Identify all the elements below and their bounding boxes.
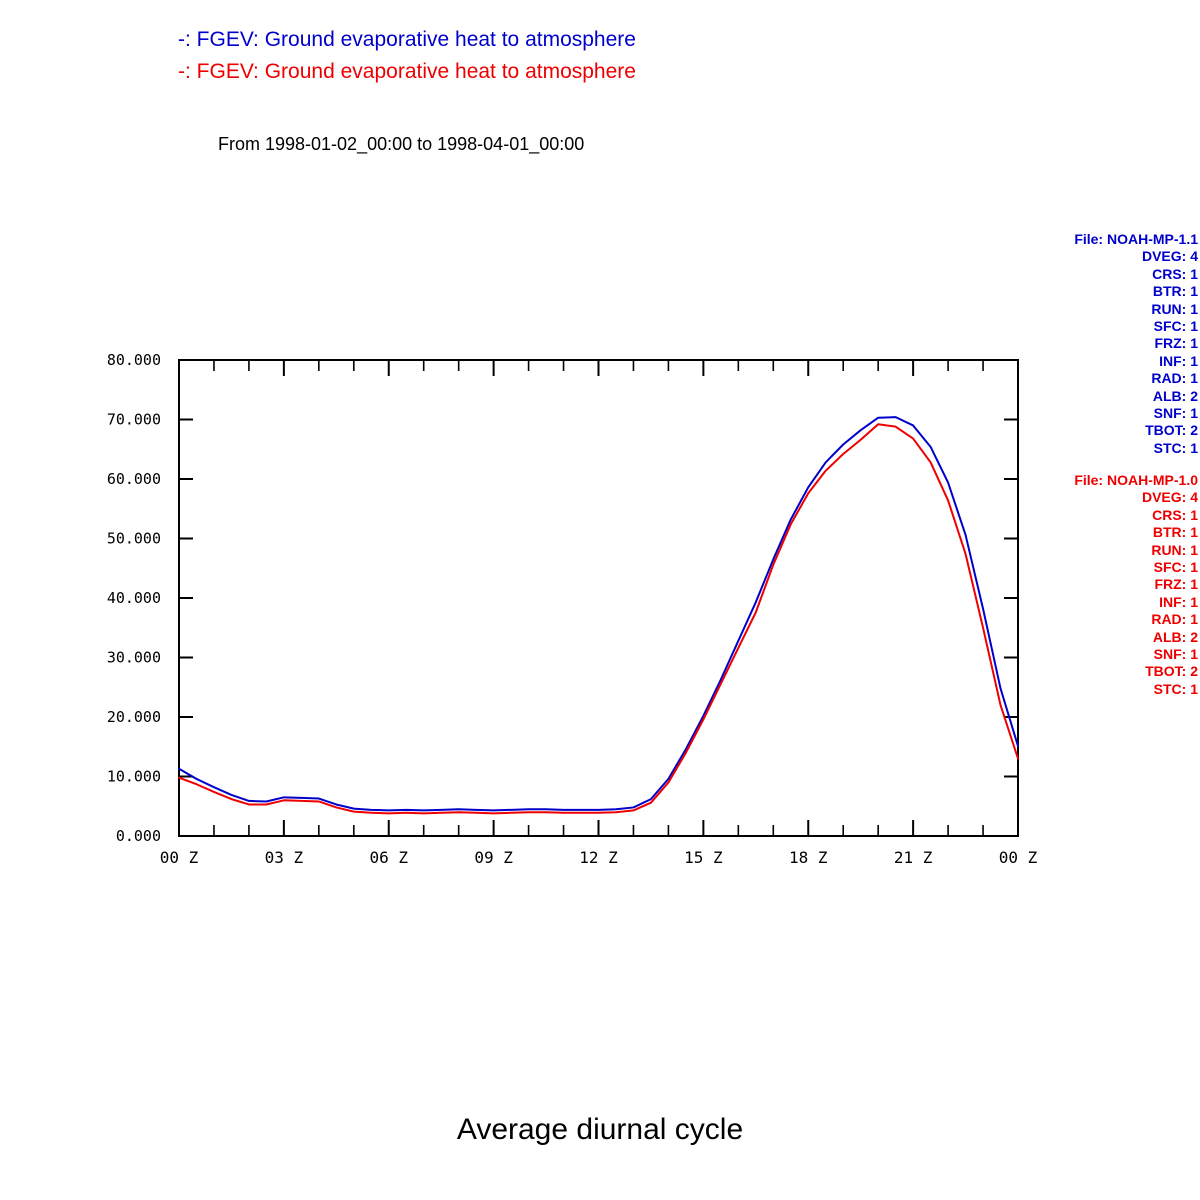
- x-axis-label: 06 Z: [369, 848, 408, 867]
- y-axis-label: 30.000: [107, 649, 161, 667]
- x-axis-label: 18 Z: [789, 848, 828, 867]
- plot-frame: [179, 360, 1018, 836]
- x-axis-label: 09 Z: [474, 848, 513, 867]
- y-axis-label: 80.000: [107, 351, 161, 369]
- series-line-red: [179, 424, 1018, 813]
- x-axis-label: 00 Z: [999, 848, 1038, 867]
- y-axis-label: 70.000: [107, 411, 161, 429]
- x-axis-label: 15 Z: [684, 848, 723, 867]
- y-axis-label: 0.000: [116, 827, 161, 845]
- y-axis-label: 20.000: [107, 708, 161, 726]
- plot-area: 0.00010.00020.00030.00040.00050.00060.00…: [0, 0, 1200, 1200]
- y-axis-label: 10.000: [107, 768, 161, 786]
- x-axis-label: 21 Z: [894, 848, 933, 867]
- chart-caption: Average diurnal cycle: [0, 1113, 1200, 1147]
- x-axis-label: 12 Z: [579, 848, 618, 867]
- x-axis-label: 00 Z: [160, 848, 199, 867]
- x-axis-label: 03 Z: [265, 848, 304, 867]
- chart-canvas: -: FGEV: Ground evaporative heat to atmo…: [0, 0, 1200, 1200]
- y-axis-label: 60.000: [107, 470, 161, 488]
- y-axis-label: 40.000: [107, 589, 161, 607]
- series-line-blue: [179, 417, 1018, 810]
- y-axis-label: 50.000: [107, 530, 161, 548]
- diurnal-cycle-plot: 0.00010.00020.00030.00040.00050.00060.00…: [0, 0, 1200, 1200]
